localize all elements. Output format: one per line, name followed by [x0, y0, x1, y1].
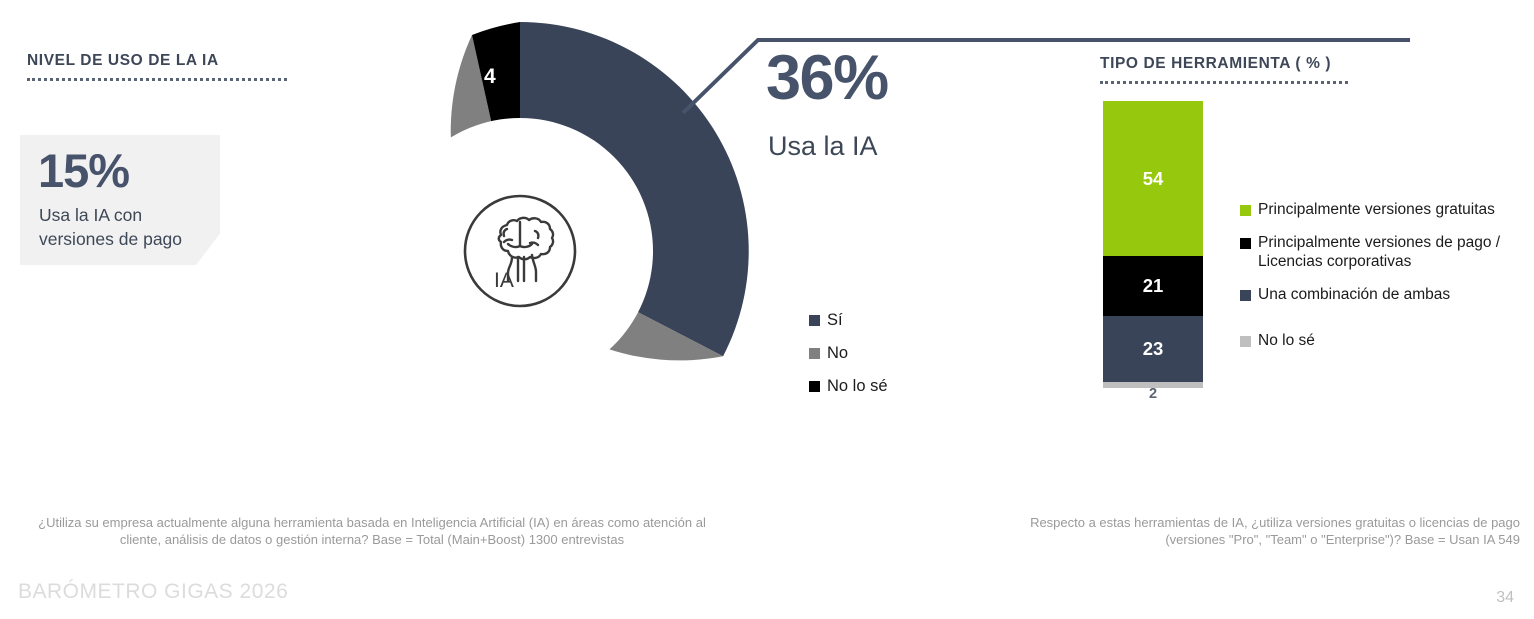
legend-item-combinacion[interactable]: Una combinación de ambas	[1240, 285, 1520, 305]
right-title-underline	[1100, 81, 1348, 84]
brand-label: BARÓMETRO GIGAS 2026	[18, 580, 288, 604]
bar-value-nolose: 2	[1103, 386, 1203, 402]
right-footnote: Respecto a estas herramientas de IA, ¿ut…	[1000, 515, 1520, 548]
legend-item-gratuitas[interactable]: Principalmente versiones gratuitas	[1240, 200, 1520, 220]
left-title-underline	[27, 78, 287, 81]
donut-value-nolose: 4	[484, 65, 496, 89]
right-section-title: TIPO DE HERRAMIENTA ( % )	[1100, 55, 1331, 73]
stacked-bar-chart: 54 21 23	[1103, 101, 1203, 388]
legend-swatch-nolose	[809, 381, 820, 392]
donut-legend: Sí No No lo sé	[809, 312, 888, 411]
legend-label-gratuitas: Principalmente versiones gratuitas	[1258, 200, 1495, 220]
donut-value-no: 60	[355, 339, 378, 363]
slide-canvas: NIVEL DE USO DE LA IA 15% Usa la IA con …	[0, 0, 1534, 619]
legend-label-no: No	[827, 345, 848, 362]
legend-swatch-gratuitas	[1240, 205, 1251, 216]
legend-label-si: Sí	[827, 312, 843, 329]
callout-value: 36%	[766, 42, 888, 114]
legend-item-si[interactable]: Sí	[809, 312, 888, 329]
bar-segment-gratuitas[interactable]: 54	[1103, 101, 1203, 256]
legend-item-no[interactable]: No	[809, 345, 888, 362]
legend-swatch-combinacion	[1240, 290, 1251, 301]
bar-value-gratuitas: 54	[1143, 168, 1164, 190]
callout-caption: Usa la IA	[768, 131, 878, 162]
legend-swatch-no	[809, 348, 820, 359]
bar-segment-pago[interactable]: 21	[1103, 256, 1203, 316]
svg-text:IA: IA	[494, 269, 514, 292]
legend-swatch-nolose-bar	[1240, 336, 1251, 347]
kpi-value: 15%	[38, 143, 129, 198]
legend-swatch-si	[809, 315, 820, 326]
legend-swatch-pago	[1240, 238, 1251, 249]
legend-label-pago: Principalmente versiones de pago / Licen…	[1258, 233, 1520, 272]
legend-label-nolose-bar: No lo sé	[1258, 331, 1315, 351]
kpi-caption: Usa la IA con versiones de pago	[39, 203, 214, 251]
brain-icon: IA	[460, 191, 580, 311]
left-footnote: ¿Utiliza su empresa actualmente alguna h…	[22, 515, 722, 548]
legend-label-combinacion: Una combinación de ambas	[1258, 285, 1450, 305]
bar-value-pago: 21	[1143, 275, 1164, 297]
page-number: 34	[1496, 589, 1514, 607]
legend-label-nolose: No lo sé	[827, 378, 888, 395]
left-section-title: NIVEL DE USO DE LA IA	[27, 52, 219, 70]
legend-item-pago[interactable]: Principalmente versiones de pago / Licen…	[1240, 233, 1520, 272]
bar-segment-combinacion[interactable]: 23	[1103, 316, 1203, 382]
legend-item-nolose-bar[interactable]: No lo sé	[1240, 331, 1520, 351]
bar-value-combinacion: 23	[1143, 338, 1164, 360]
legend-item-nolose[interactable]: No lo sé	[809, 378, 888, 395]
bar-legend: Principalmente versiones gratuitas Princ…	[1240, 200, 1520, 364]
